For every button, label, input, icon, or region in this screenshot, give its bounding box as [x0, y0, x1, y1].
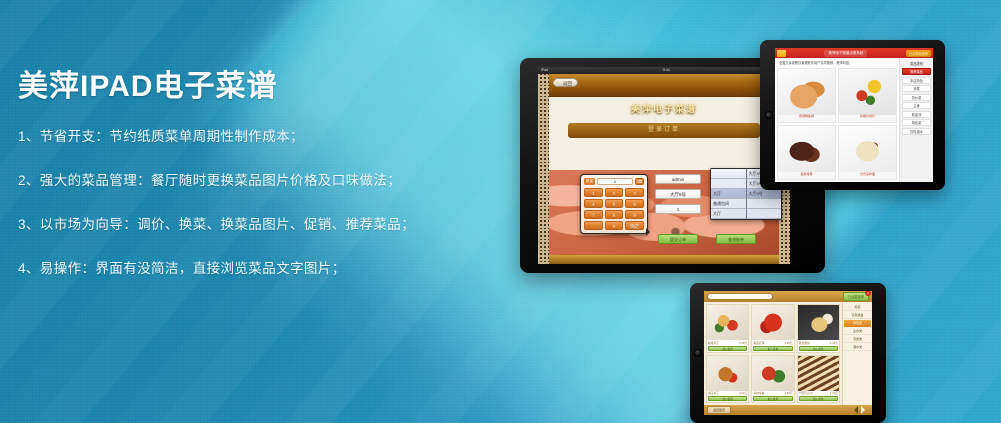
keypad-key[interactable]: 2 [605, 188, 624, 197]
home-button[interactable] [765, 111, 773, 119]
sidebar-item-staple[interactable]: 主食类 [844, 328, 871, 335]
dish-card[interactable]: 香辣烤鱼排 [777, 68, 836, 123]
keypad-key[interactable]: 9 [625, 210, 644, 219]
category-sidebar: 菜品类别 推荐菜品 本店特色 凉菜 热炒菜 主食 精品汤 特色菜 饮料酒水 [899, 58, 933, 182]
cell-area: 大厅 [711, 189, 747, 199]
next-page-icon[interactable] [861, 406, 869, 414]
dish-card[interactable]: 日式凉拌面 [838, 125, 897, 180]
dish-image [798, 305, 839, 340]
sidebar-item-drinks[interactable]: 酒水类 [844, 344, 871, 351]
keypad-key[interactable]: 1 [584, 188, 603, 197]
sidebar-item-recommended[interactable]: 推荐菜品 [902, 68, 931, 75]
list-item: 2、强大的菜品管理：餐厅随时更换菜品图片价格及口味做法； [18, 172, 488, 191]
dish-meta: 辣子鸡丁 ￥42元 [707, 391, 748, 396]
numeric-keypad[interactable]: 数量 6 ⌫ 1 2 3 4 5 6 7 8 [580, 174, 648, 234]
dish-meta: 千层巧克力 ￥22元 [798, 391, 839, 396]
cell-table: 大厅6号 [747, 189, 782, 199]
dish-price: ￥38元 [739, 341, 748, 345]
app-title: 美萍电子菜谱 [538, 98, 790, 120]
dish-card[interactable]: 黄金酥饼 ￥18元 加入菜单 [797, 304, 840, 353]
dish-card[interactable]: 番茄虾球 ￥58元 加入菜单 [751, 304, 794, 353]
keypad-grid: 1 2 3 4 5 6 7 8 9 . 0 确定 [584, 188, 644, 230]
sidebar-item-cold[interactable]: 凉菜 [902, 85, 931, 92]
user-field[interactable]: admin [655, 174, 701, 184]
keypad-key[interactable]: 7 [584, 210, 603, 219]
sidebar-item-staple[interactable]: 主食 [902, 102, 931, 109]
home-link-button[interactable]: 返回首页 [707, 406, 731, 414]
top-right-ipad-device: 美萍电子菜谱点菜系统 已点菜品查看 全国万余家餐饮管理软件用户共同推荐，美萍科技… [760, 40, 945, 190]
dish-image [752, 305, 793, 340]
dish-price: ￥58元 [784, 341, 793, 345]
dish-card[interactable]: 酱香排骨 [777, 125, 836, 180]
sidebar-item-cold-platter[interactable]: 凉菜拼盘 [844, 312, 871, 319]
search-input[interactable] [707, 293, 773, 300]
add-to-order-button[interactable]: 加入菜单 [753, 396, 792, 401]
main-ipad-screen: iPad 9:41 ▮ 返回 美萍电子菜谱 登录订单 [538, 67, 790, 264]
keypad-key[interactable]: 0 [605, 221, 624, 230]
device-bezel: 美萍电子菜谱点菜系统 已点菜品查看 全国万余家餐饮管理软件用户共同推荐，美萍科技… [760, 40, 945, 190]
cell-area [711, 169, 747, 179]
dish-name: 千层巧克力 [799, 391, 813, 395]
order-login-app: 返回 美萍电子菜谱 登录订单 数量 6 ⌫ 1 [538, 74, 790, 264]
keypad-key[interactable]: 6 [625, 199, 644, 208]
dish-price: ￥42元 [739, 391, 748, 395]
dish-name: 黄金酥饼 [799, 341, 810, 345]
add-to-order-button[interactable]: 加入菜单 [708, 396, 747, 401]
back-button[interactable]: 返回 [553, 78, 578, 87]
sidebar-item-specialty[interactable]: 特色菜 [844, 320, 871, 327]
cell-area: 大厅 [711, 209, 747, 219]
menu-ordering-app: 已点菜品单 3 彩椒鸡丁 ￥38元 加 [704, 291, 872, 415]
pointer-arrow-icon [646, 228, 654, 236]
table-row[interactable]: 大厅 大厅6号 [711, 189, 781, 199]
dish-name: 香辣烤鱼排 [778, 115, 835, 122]
dish-name: 青椒牛柳 [753, 391, 764, 395]
promo-banner: 美萍IPAD电子菜谱 1、节省开支：节约纸质菜单周期性制作成本； 2、强大的菜品… [0, 0, 1001, 423]
dish-name: 番茄虾球 [753, 341, 764, 345]
cell-table [747, 209, 782, 219]
add-to-order-button[interactable]: 加入菜单 [799, 346, 838, 351]
dish-name: 日式凉拌面 [839, 172, 896, 179]
dish-grid-panel: 全国万余家餐饮管理软件用户共同推荐，美萍科技。 香辣烤鱼排 彩椒炒肉片 [775, 58, 899, 182]
keypad-key[interactable]: 5 [605, 199, 624, 208]
dish-meta: 青椒牛柳 ￥48元 [752, 391, 793, 396]
dish-name: 辣子鸡丁 [708, 391, 719, 395]
add-to-order-button[interactable]: 加入菜单 [753, 346, 792, 351]
app-subtitle-bar: 登录订单 [568, 123, 760, 138]
sidebar-item-signature[interactable]: 特色菜 [902, 119, 931, 126]
dish-price: ￥18元 [829, 341, 838, 345]
add-to-order-button[interactable]: 加入菜单 [708, 346, 747, 351]
bottom-right-ipad-device: 已点菜品单 3 彩椒鸡丁 ￥38元 加 [690, 283, 886, 423]
sidebar-item-soup[interactable]: 精品汤 [902, 111, 931, 118]
list-item: 1、节省开支：节约纸质菜单周期性制作成本； [18, 128, 488, 147]
app-body: 彩椒鸡丁 ￥38元 加入菜单 番茄虾球 ￥58元 [704, 302, 872, 405]
list-item: 4、易操作：界面有没简洁，直接浏览菜品文字图片； [18, 260, 488, 279]
cell-table [747, 199, 782, 209]
table-row[interactable]: 普通包间 [711, 199, 781, 209]
dish-price: ￥48元 [784, 391, 793, 395]
dish-card[interactable]: 辣子鸡丁 ￥42元 加入菜单 [706, 355, 749, 404]
app-topbar: 美萍电子菜谱点菜系统 已点菜品查看 [775, 48, 933, 58]
top-right-ipad-screen: 美萍电子菜谱点菜系统 已点菜品查看 全国万余家餐饮管理软件用户共同推荐，美萍科技… [775, 48, 933, 182]
count-field[interactable]: 1 [655, 204, 701, 214]
clock-label: 9:41 [663, 69, 670, 73]
bottom-right-ipad-screen: 已点菜品单 3 彩椒鸡丁 ￥38元 加 [704, 291, 872, 415]
dish-grid: 香辣烤鱼排 彩椒炒肉片 酱香排骨 [777, 68, 897, 180]
add-to-order-button[interactable]: 加入菜单 [799, 396, 838, 401]
keypad-key[interactable]: 4 [584, 199, 603, 208]
ios-status-bar: iPad 9:41 ▮ [538, 67, 790, 74]
keypad-label: 数量 [584, 178, 595, 185]
dish-card[interactable]: 青椒牛柳 ￥48元 加入菜单 [751, 355, 794, 404]
sidebar-item-stirfry[interactable]: 热炒菜 [902, 94, 931, 101]
dish-name: 彩椒炒肉片 [839, 115, 896, 122]
sidebar-item-drinks[interactable]: 饮料酒水 [902, 128, 931, 135]
dish-image [707, 305, 748, 340]
page-title: 美萍IPAD电子菜谱 [18, 70, 488, 103]
sidebar-item-soup[interactable]: 汤羹类 [844, 336, 871, 343]
list-item: 3、以市场为向导：调价、换菜、换菜品图片、促销、推荐菜品； [18, 216, 488, 235]
login-fields: admin 大厅6号 1 [655, 174, 701, 219]
prev-page-icon[interactable] [850, 406, 858, 414]
dish-image [839, 126, 896, 172]
app-footer: 返回首页 [704, 405, 872, 415]
sidebar-item-specialty[interactable]: 本店特色 [902, 77, 931, 84]
dish-price: ￥22元 [829, 391, 838, 395]
table-field[interactable]: 大厅6号 [655, 189, 701, 199]
dish-image [839, 69, 896, 115]
dish-meta: 黄金酥饼 ￥18元 [798, 340, 839, 345]
keypad-key[interactable]: . [584, 221, 603, 230]
logo-icon [777, 50, 786, 57]
marketing-copy: 美萍IPAD电子菜谱 1、节省开支：节约纸质菜单周期性制作成本； 2、强大的菜品… [18, 70, 488, 279]
dish-grid: 彩椒鸡丁 ￥38元 加入菜单 番茄虾球 ￥58元 [704, 302, 842, 405]
cart-button[interactable]: 已点菜品单 3 [843, 292, 869, 301]
backspace-icon[interactable]: ⌫ [635, 178, 644, 185]
action-buttons: 提交订单 查询账单 [658, 234, 778, 244]
keypad-key[interactable]: 确定 [625, 221, 644, 230]
keypad-key[interactable]: 3 [625, 188, 644, 197]
dish-name: 酱香排骨 [778, 172, 835, 179]
dish-image [707, 356, 748, 391]
dish-image [752, 356, 793, 391]
cell-area [711, 179, 747, 189]
app-topbar: 返回 [549, 74, 779, 97]
pagination-controls [850, 406, 869, 414]
sidebar-item-hot[interactable]: 热菜 [844, 304, 871, 311]
dish-browser-app: 美萍电子菜谱点菜系统 已点菜品查看 全国万余家餐饮管理软件用户共同推荐，美萍科技… [775, 48, 933, 182]
dish-image [778, 126, 835, 172]
sidebar-header: 菜品类别 [902, 60, 931, 68]
feature-list: 1、节省开支：节约纸质菜单周期性制作成本； 2、强大的菜品管理：餐厅随时更换菜品… [18, 128, 488, 279]
category-sidebar: 热菜 凉菜拼盘 特色菜 主食类 汤羹类 酒水类 [842, 302, 872, 405]
dish-card[interactable]: 彩椒炒肉片 [838, 68, 897, 123]
gold-footer-strip [549, 255, 779, 264]
carrier-label: iPad [541, 69, 548, 73]
submit-order-button[interactable]: 提交订单 [658, 234, 698, 244]
app-body: 全国万余家餐饮管理软件用户共同推荐，美萍科技。 香辣烤鱼排 彩椒炒肉片 [775, 58, 933, 182]
cart-label: 已点菜品单 [848, 295, 864, 299]
notice-text: 全国万余家餐饮管理软件用户共同推荐，美萍科技。 [777, 60, 897, 68]
dish-card[interactable]: 彩椒鸡丁 ￥38元 加入菜单 [706, 304, 749, 353]
keypad-input[interactable]: 6 [597, 178, 633, 185]
dish-name: 彩椒鸡丁 [708, 341, 719, 345]
keypad-key[interactable]: 8 [605, 210, 624, 219]
cell-area: 普通包间 [711, 199, 747, 209]
device-bezel: 已点菜品单 3 彩椒鸡丁 ￥38元 加 [690, 283, 886, 423]
home-button[interactable] [694, 349, 702, 357]
dish-image [778, 69, 835, 115]
dish-meta: 番茄虾球 ￥58元 [752, 340, 793, 345]
dish-image [798, 356, 839, 391]
dish-card[interactable]: 千层巧克力 ￥22元 加入菜单 [797, 355, 840, 404]
app-title: 美萍电子菜谱点菜系统 [824, 50, 867, 57]
query-bill-button[interactable]: 查询账单 [716, 234, 756, 244]
table-row[interactable]: 大厅 [711, 209, 781, 219]
keypad-display-row: 数量 6 ⌫ [584, 178, 644, 185]
cart-badge: 3 [865, 291, 871, 296]
view-ordered-button[interactable]: 已点菜品查看 [906, 50, 931, 57]
app-topbar: 已点菜品单 3 [704, 291, 872, 302]
dish-meta: 彩椒鸡丁 ￥38元 [707, 340, 748, 345]
